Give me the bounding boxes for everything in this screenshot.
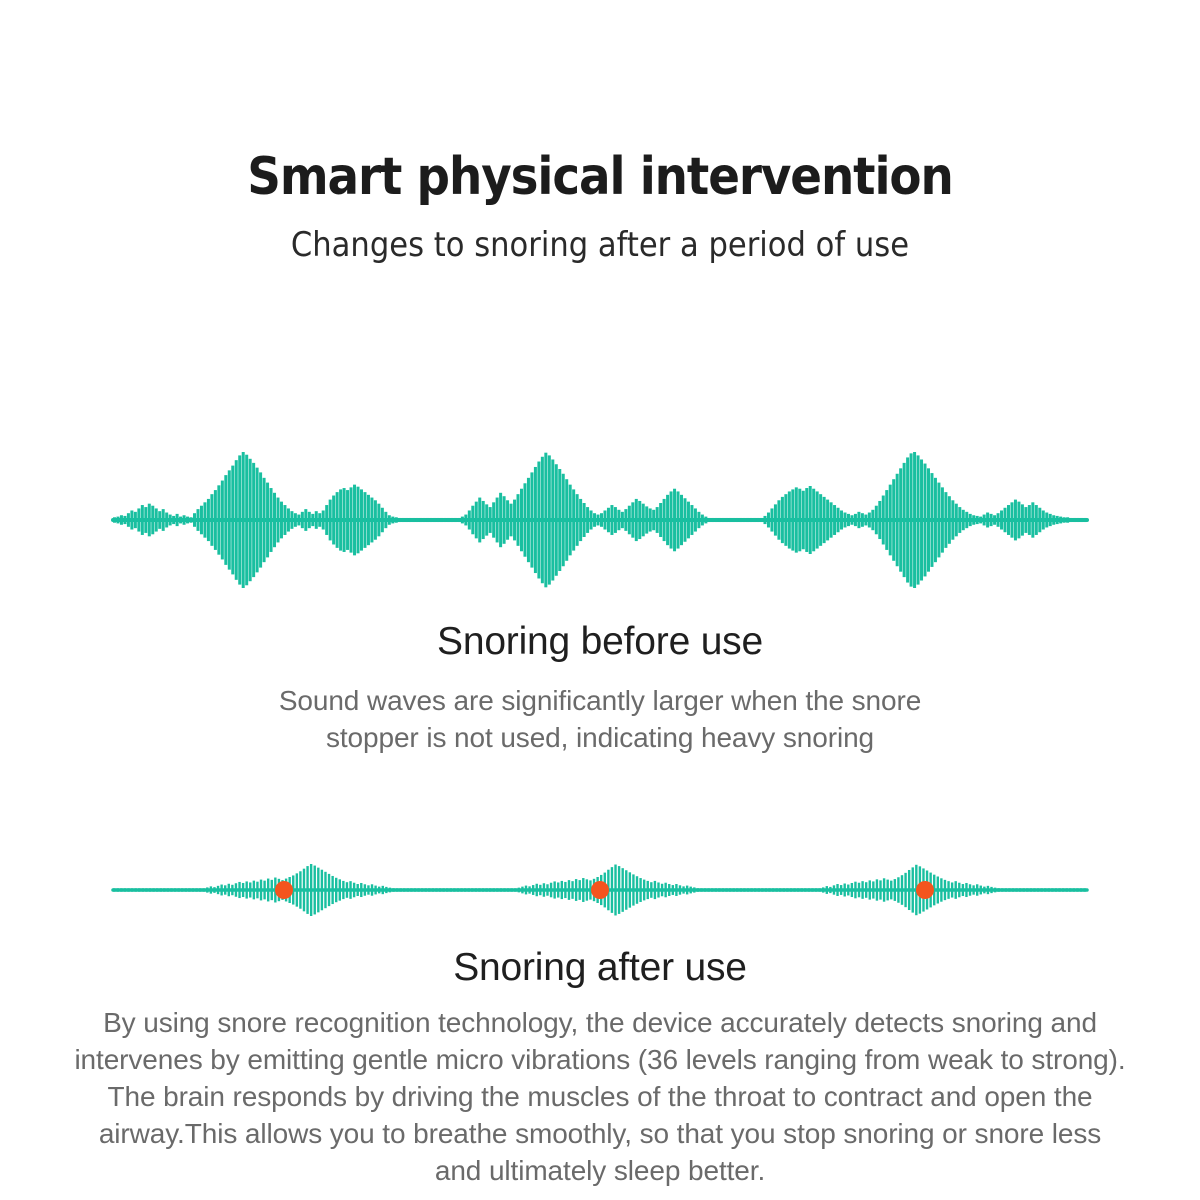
waveform-bar [892, 479, 895, 561]
waveform-bar [903, 463, 906, 577]
waveform-bar [883, 878, 885, 901]
waveform-bar [958, 507, 961, 533]
waveform-bar [1084, 518, 1087, 522]
waveform-bar [144, 507, 147, 533]
waveform-bar [454, 518, 457, 522]
waveform-bar [425, 888, 427, 892]
waveform-bar [793, 888, 795, 892]
waveform-bar [287, 508, 290, 531]
waveform-bar [457, 888, 459, 892]
waveform-bar [349, 881, 351, 899]
waveform-bar [188, 888, 190, 892]
waveform-bar [550, 883, 552, 898]
waveform-bar [120, 515, 123, 525]
waveform-bar [910, 453, 913, 586]
waveform-bar [739, 518, 742, 522]
waveform-bar [510, 504, 513, 537]
waveform-bar [854, 882, 856, 899]
header: Smart physical intervention Changes to s… [0, 146, 1200, 266]
waveform-bar [485, 504, 488, 535]
waveform-bar [675, 884, 677, 896]
waveform-bar [711, 518, 714, 522]
waveform-bar [768, 888, 770, 892]
waveform-bar [1051, 888, 1053, 892]
waveform-before-use [0, 400, 1200, 640]
waveform-bar [525, 886, 527, 895]
waveform-bar [647, 881, 649, 899]
waveform-bar [809, 486, 812, 554]
waveform-after-use-svg [0, 840, 1200, 940]
waveform-bar [632, 874, 634, 905]
waveform-bar [123, 516, 126, 524]
waveform-bar [378, 887, 380, 894]
waveform-bar [432, 888, 434, 892]
waveform-bar [879, 880, 881, 899]
waveform-bar [468, 888, 470, 892]
waveform-bar [871, 510, 874, 530]
waveform-bar [854, 514, 857, 526]
waveform-bar [238, 882, 240, 898]
waveform-bar [908, 870, 910, 910]
waveform-bar [256, 468, 259, 573]
waveform-bar [683, 498, 686, 542]
waveform-bar [875, 506, 878, 535]
waveform-bar [273, 493, 276, 547]
waveform-bar [818, 888, 820, 892]
waveform-bar [371, 884, 373, 895]
waveform-bar [844, 513, 847, 528]
waveform-bar [231, 466, 234, 575]
waveform-bar [266, 483, 269, 558]
waveform-bar [652, 510, 655, 530]
waveform-bar [530, 472, 533, 567]
waveform-bar [673, 489, 676, 552]
waveform-bar [220, 885, 222, 896]
waveform-bar [725, 888, 727, 892]
waveform-bar [747, 888, 749, 892]
waveform-bar [639, 878, 641, 902]
waveform-bar [1021, 504, 1024, 535]
waveform-bar [826, 886, 828, 894]
waveform-bar [983, 515, 986, 526]
waveform-bar [811, 888, 813, 892]
waveform-bar [1070, 518, 1073, 522]
waveform-bar [1037, 888, 1039, 892]
waveform-bar [965, 883, 967, 897]
waveform-bar [1005, 888, 1007, 892]
waveform-bar [781, 497, 784, 543]
waveform-bar [335, 878, 337, 902]
waveform-bar [786, 888, 788, 892]
waveform-bar [690, 505, 693, 535]
waveform-bar [941, 487, 944, 552]
waveform-bar [770, 508, 773, 531]
waveform-bar [374, 886, 376, 895]
waveform-bar [517, 494, 520, 546]
waveform-bar [548, 455, 551, 584]
waveform-bar [464, 515, 467, 526]
waveform-bar [917, 455, 920, 584]
waveform-bar [643, 880, 645, 901]
waveform-bar [527, 478, 530, 562]
waveform-bar [339, 489, 342, 550]
waveform-bar [715, 518, 718, 522]
waveform-bar [690, 887, 692, 894]
waveform-bar [597, 515, 600, 526]
waveform-bar [210, 886, 212, 893]
waveform-bar [614, 865, 616, 916]
waveform-bar [1038, 508, 1041, 532]
waveform-bar [270, 488, 273, 552]
waveform-bar [493, 888, 495, 892]
waveform-bar [426, 518, 429, 522]
waveform-bar [890, 881, 892, 900]
waveform-bar [513, 500, 516, 541]
waveform-bar [450, 888, 452, 892]
waveform-bar [299, 871, 301, 908]
waveform-bar [423, 518, 426, 522]
waveform-bar [417, 888, 419, 892]
waveform-bar [263, 478, 266, 562]
waveform-bar [478, 888, 480, 892]
waveform-bar [116, 517, 119, 524]
waveform-bar [829, 887, 831, 893]
waveform-bar [551, 459, 554, 580]
waveform-bar [388, 515, 391, 525]
waveform-bar [1014, 500, 1017, 541]
waveform-bar [746, 518, 749, 522]
waveform-bar [507, 888, 509, 892]
waveform-bar [210, 494, 213, 546]
waveform-bar [539, 885, 541, 895]
waveform-bar [532, 885, 534, 895]
waveform-bar [385, 887, 387, 893]
waveform-bar [127, 888, 129, 892]
waveform-bar [308, 512, 311, 528]
caption-after-use: Snoring after use By using snore recogni… [0, 944, 1200, 1189]
waveform-bar [777, 500, 780, 539]
waveform-bar [603, 510, 606, 529]
waveform-bar [1073, 888, 1075, 892]
waveform-bar [1069, 888, 1071, 892]
waveform-bar [152, 888, 154, 892]
waveform-bar [1028, 505, 1031, 535]
waveform-bar [382, 886, 384, 894]
waveform-bar [151, 506, 154, 535]
waveform-bar [586, 879, 588, 900]
waveform-bar [304, 509, 307, 531]
waveform-bar [318, 513, 321, 527]
waveform-bar [137, 508, 140, 531]
waveform-bar [732, 518, 735, 522]
waveform-bar [763, 516, 766, 524]
waveform-bar [876, 879, 878, 900]
waveform-bar [754, 888, 756, 892]
section-body-before: Sound waves are significantly larger whe… [250, 682, 950, 756]
waveform-bar [790, 888, 792, 892]
waveform-bar [357, 487, 360, 554]
waveform-bar [1045, 513, 1048, 528]
waveform-bar [645, 506, 648, 533]
waveform-bar [694, 508, 697, 531]
waveform-bar [844, 884, 846, 897]
waveform-bar [962, 884, 964, 896]
waveform-bar [736, 888, 738, 892]
waveform-bar [367, 885, 369, 894]
waveform-bar [625, 870, 627, 910]
waveform-bar [753, 518, 756, 522]
waveform-bar [185, 888, 187, 892]
waveform-bar [823, 497, 826, 543]
waveform-bar [934, 478, 937, 562]
waveform-bar [317, 868, 319, 913]
waveform-bar [172, 516, 175, 524]
waveform-bar [195, 888, 197, 892]
waveform-bar [252, 463, 255, 577]
waveform-bar [329, 500, 332, 541]
waveform-bar [736, 518, 739, 522]
waveform-bar [148, 504, 151, 537]
waveform-bar [659, 503, 662, 537]
waveform-bar [392, 888, 394, 892]
waveform-bar [561, 881, 563, 899]
waveform-bar [506, 500, 509, 539]
waveform-bar [343, 488, 346, 552]
waveform-bar [1073, 518, 1076, 522]
waveform-bar [858, 883, 860, 898]
waveform-bar [242, 883, 244, 897]
waveform-bar [816, 491, 819, 548]
waveform-bar [435, 888, 437, 892]
waveform-bar [1059, 517, 1062, 524]
waveform-bar [901, 875, 903, 905]
waveform-bar [750, 888, 752, 892]
waveform-bar [217, 485, 220, 554]
waveform-bar [885, 490, 888, 550]
waveform-bar [177, 888, 179, 892]
waveform-bar [808, 888, 810, 892]
waveform-bar [280, 502, 283, 539]
waveform-bar [402, 518, 405, 522]
waveform-bar [160, 888, 162, 892]
waveform-bar [296, 873, 298, 906]
waveform-bar [271, 880, 273, 900]
waveform-bar [475, 502, 478, 539]
waveform-bar [743, 888, 745, 892]
waveform-bar [353, 485, 356, 556]
waveform-bar [997, 513, 1000, 527]
waveform-bar [906, 457, 909, 582]
waveform-bar [889, 485, 892, 556]
waveform-bar [569, 485, 572, 556]
waveform-bar [804, 888, 806, 892]
waveform-bar [325, 505, 328, 535]
waveform-bar [113, 517, 116, 522]
waveform-bar [664, 883, 666, 898]
waveform-bar [138, 888, 140, 892]
page-root: Smart physical intervention Changes to s… [0, 0, 1200, 1200]
waveform-bar [636, 876, 638, 904]
waveform-bar [131, 888, 133, 892]
waveform-bar [213, 887, 215, 893]
waveform-bar [389, 888, 391, 893]
waveform-bar [468, 510, 471, 529]
waveform-bar [621, 512, 624, 528]
waveform-after-use [0, 840, 1200, 940]
waveform-bar [186, 517, 189, 524]
waveform-bar [631, 502, 634, 537]
waveform-bar [442, 888, 444, 892]
waveform-bar [986, 513, 989, 528]
waveform-bar [663, 499, 666, 541]
waveform-bar [460, 888, 462, 892]
waveform-bar [242, 452, 245, 588]
waveform-bar [381, 508, 384, 532]
waveform-bar [475, 888, 477, 892]
waveform-bar [886, 880, 888, 901]
waveform-bar [256, 882, 258, 899]
waveform-bar [993, 515, 996, 525]
waveform-bar [297, 515, 300, 526]
waveform-bar [1004, 508, 1007, 532]
waveform-bar [944, 492, 947, 548]
waveform-bar [192, 888, 194, 892]
waveform-bar [301, 512, 304, 528]
waveform-bar [1055, 888, 1057, 892]
waveform-bar [861, 513, 864, 527]
waveform-bar [249, 882, 251, 897]
waveform-bar [969, 514, 972, 526]
waveform-bar [670, 491, 673, 548]
waveform-bar [972, 885, 974, 894]
waveform-bar [628, 506, 631, 535]
waveform-bar [127, 513, 130, 527]
waveform-bar [155, 508, 158, 531]
waveform-bar [1000, 510, 1003, 529]
waveform-bar [141, 505, 144, 535]
waveform-bar [1024, 507, 1027, 533]
waveform-bar [363, 492, 366, 548]
waveform-bar [661, 884, 663, 896]
caption-before-use: Snoring before use Sound waves are signi… [0, 618, 1200, 756]
waveform-bar [772, 888, 774, 892]
waveform-bar [677, 491, 680, 548]
waveform-bar [207, 499, 210, 541]
waveform-bar [958, 883, 960, 898]
waveform-bar [1015, 888, 1017, 892]
waveform-bar [614, 507, 617, 533]
section-heading-after: Snoring after use [0, 944, 1200, 992]
waveform-bar [384, 512, 387, 528]
waveform-bar [687, 502, 690, 539]
waveform-bar [994, 888, 996, 893]
waveform-bar [1026, 888, 1028, 892]
waveform-bar [740, 888, 742, 892]
waveform-bar [979, 517, 982, 524]
waveform-bar [927, 468, 930, 571]
waveform-bar [443, 518, 446, 522]
waveform-bar [377, 504, 380, 537]
waveform-bar [765, 888, 767, 892]
waveform-bar [471, 506, 474, 535]
waveform-bar [447, 518, 450, 522]
waveform-bar [840, 885, 842, 895]
waveform-bar [568, 880, 570, 900]
waveform-bar [666, 495, 669, 545]
waveform-bar [629, 872, 631, 907]
waveform-bar [576, 494, 579, 546]
waveform-bar [294, 513, 297, 527]
waveform-bar [536, 884, 538, 896]
waveform-bar [174, 888, 176, 892]
waveform-bar [913, 452, 916, 588]
waveform-bar [322, 510, 325, 529]
waveform-bar [259, 472, 262, 567]
waveform-bar [864, 515, 867, 526]
waveform-before-use-svg [0, 400, 1200, 640]
waveform-bar [600, 513, 603, 527]
waveform-bar [169, 515, 172, 526]
waveform-bar [544, 453, 547, 588]
waveform-bar [396, 888, 398, 892]
waveform-bar [819, 494, 822, 546]
waveform-bar [350, 487, 353, 552]
waveform-bar [750, 518, 753, 522]
waveform-bar [565, 479, 568, 561]
waveform-bar [700, 888, 702, 892]
waveform-bar [364, 884, 366, 895]
waveform-bar [461, 517, 464, 524]
waveform-bar [214, 490, 217, 550]
waveform-bar [930, 473, 933, 567]
waveform-bar [553, 881, 555, 898]
waveform-bar [638, 501, 641, 539]
waveform-bar [868, 513, 871, 528]
waveform-bar [332, 496, 335, 545]
waveform-bar [439, 888, 441, 892]
waveform-bar [761, 888, 763, 892]
waveform-bar [590, 510, 593, 529]
waveform-bar [679, 885, 681, 894]
waveform-bar [791, 489, 794, 550]
waveform-bar [1001, 888, 1003, 892]
waveform-bar [937, 876, 939, 903]
waveform-bar [410, 888, 412, 892]
waveform-bar [1048, 888, 1050, 892]
waveform-bar [1062, 888, 1064, 892]
section-heading-before: Snoring before use [0, 618, 1200, 666]
waveform-bar [680, 495, 683, 545]
waveform-bar [523, 483, 526, 556]
waveform-bar [1066, 517, 1069, 522]
waveform-bar [167, 888, 169, 892]
waveform-bar [904, 873, 906, 907]
waveform-bar [306, 866, 308, 914]
waveform-bar [228, 470, 231, 569]
waveform-bar [944, 880, 946, 900]
waveform-bar [711, 888, 713, 892]
waveform-bar [582, 878, 584, 902]
waveform-bar [940, 878, 942, 901]
waveform-bar [1008, 888, 1010, 892]
waveform-bar [697, 888, 699, 892]
waveform-bar [395, 517, 398, 522]
waveform-bar [704, 517, 707, 524]
waveform-bar [1040, 888, 1042, 892]
waveform-bar [482, 888, 484, 892]
waveform-bar [555, 464, 558, 576]
waveform-bar [398, 518, 401, 522]
